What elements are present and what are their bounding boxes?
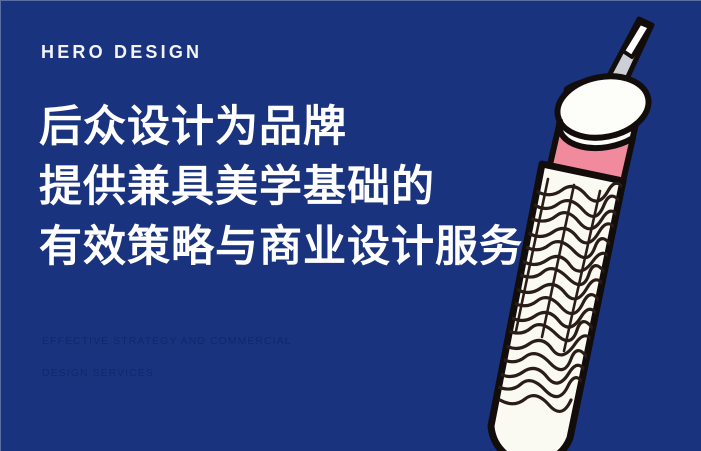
poster-canvas: HERO DESIGN 后众设计为品牌 提供兼具美学基础的 有效策略与商业设计服… (0, 0, 701, 451)
subcaption-line-1: EFFECTIVE STRATEGY AND COMMERCIAL (42, 335, 372, 347)
pencil-body (491, 164, 628, 451)
subcaption-block: EFFECTIVE STRATEGY AND COMMERCIAL DESIGN… (42, 335, 372, 379)
brand-name: HERO DESIGN (41, 41, 202, 63)
pencil-stylus-illustration (456, 1, 701, 451)
subcaption-line-2: DESIGN SERVICES (42, 367, 372, 379)
